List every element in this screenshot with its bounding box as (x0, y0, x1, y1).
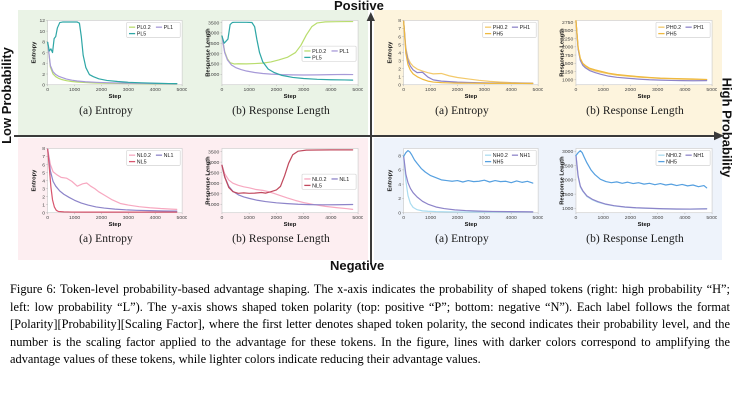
svg-text:0: 0 (221, 215, 224, 221)
svg-text:Step: Step (465, 94, 478, 100)
svg-text:4000: 4000 (150, 215, 161, 221)
svg-text:Step: Step (284, 222, 297, 228)
caption-NH-length: (b) Response Length (586, 233, 684, 245)
chart-cell-NL-entropy: 010002000300040005000012345678StepEntrop… (22, 140, 190, 260)
plot-PL-entropy: 010002000300040005000024681012StepEntrop… (22, 12, 190, 104)
svg-text:5000: 5000 (533, 87, 543, 93)
svg-text:1000: 1000 (244, 87, 255, 93)
svg-text:PH5: PH5 (666, 32, 677, 38)
caption-PH-entropy: (a) Entropy (435, 105, 489, 117)
svg-text:PL5: PL5 (312, 55, 322, 61)
svg-text:NL5: NL5 (312, 183, 322, 189)
svg-text:6: 6 (398, 34, 401, 40)
svg-text:4000: 4000 (506, 87, 517, 93)
svg-text:2000: 2000 (271, 215, 282, 221)
chart-cell-PL-length: 0100020003000400050001000150020002500300… (196, 12, 366, 132)
svg-text:2750: 2750 (562, 20, 573, 26)
svg-text:PH1: PH1 (693, 25, 704, 31)
horizontal-axis-line (14, 135, 718, 137)
chart-cell-PH-length: 0100020003000400050001000125015001750200… (550, 12, 720, 132)
vertical-axis-line (370, 18, 372, 264)
svg-text:0: 0 (398, 210, 401, 216)
svg-text:Step: Step (638, 94, 651, 100)
svg-text:3000: 3000 (652, 215, 663, 221)
plot-PL-length: 0100020003000400050001000150020002500300… (196, 12, 366, 104)
svg-text:0: 0 (575, 87, 578, 93)
svg-text:5000: 5000 (706, 215, 717, 221)
svg-text:4: 4 (398, 50, 401, 56)
svg-text:NL1: NL1 (339, 177, 349, 183)
svg-text:Response Length: Response Length (205, 28, 211, 77)
svg-text:PH0.2: PH0.2 (666, 25, 681, 31)
svg-text:5: 5 (398, 42, 401, 48)
svg-text:NH5: NH5 (666, 160, 677, 166)
svg-text:3500: 3500 (208, 20, 219, 26)
svg-text:Entropy: Entropy (387, 169, 393, 192)
caption-NL-entropy: (a) Entropy (79, 233, 133, 245)
svg-text:1000: 1000 (598, 87, 609, 93)
svg-text:1000: 1000 (244, 215, 255, 221)
chart-cell-PL-entropy: 010002000300040005000024681012StepEntrop… (22, 12, 190, 132)
svg-text:NL5: NL5 (137, 160, 147, 166)
svg-text:1000: 1000 (562, 78, 573, 84)
svg-text:4: 4 (42, 178, 45, 184)
plot-NL-length: 0100020003000400050001000150020002500300… (196, 140, 366, 232)
svg-text:1000: 1000 (598, 215, 609, 221)
svg-text:0: 0 (42, 210, 45, 216)
svg-text:3000: 3000 (479, 215, 490, 221)
plot-NH-length: 0100020003000400050001000150020002500300… (550, 140, 720, 232)
svg-text:Step: Step (109, 94, 122, 100)
svg-text:3000: 3000 (479, 87, 490, 93)
svg-text:0: 0 (575, 215, 578, 221)
svg-text:PL5: PL5 (137, 32, 147, 38)
svg-text:1: 1 (42, 202, 45, 208)
svg-text:0: 0 (42, 82, 45, 88)
chart-cell-NL-length: 0100020003000400050001000150020002500300… (196, 140, 366, 260)
svg-text:5000: 5000 (177, 87, 187, 93)
svg-text:3000: 3000 (298, 87, 309, 93)
svg-text:PH1: PH1 (520, 25, 530, 31)
chart-cell-PH-entropy: 010002000300040005000012345678StepEntrop… (378, 12, 546, 132)
svg-text:Step: Step (638, 222, 651, 228)
svg-text:5: 5 (42, 170, 45, 176)
svg-text:Response Length: Response Length (559, 28, 565, 77)
svg-text:4000: 4000 (150, 87, 161, 93)
svg-text:12: 12 (40, 18, 46, 24)
svg-text:3000: 3000 (652, 87, 663, 93)
svg-text:1000: 1000 (425, 87, 436, 93)
svg-text:7: 7 (42, 154, 45, 160)
svg-text:Entropy: Entropy (387, 41, 393, 64)
svg-text:0: 0 (46, 215, 49, 221)
svg-text:PL1: PL1 (164, 25, 174, 31)
svg-text:7: 7 (398, 26, 401, 32)
caption-PH-length: (b) Response Length (586, 105, 684, 117)
svg-text:3000: 3000 (123, 215, 134, 221)
svg-text:10: 10 (40, 29, 46, 35)
svg-text:5000: 5000 (352, 87, 363, 93)
svg-text:2000: 2000 (96, 215, 107, 221)
svg-text:3: 3 (42, 186, 45, 192)
svg-text:8: 8 (398, 18, 401, 24)
svg-text:NL1: NL1 (164, 153, 174, 159)
chart-cell-NH-length: 0100020003000400050001000150020002500300… (550, 140, 720, 260)
svg-text:4000: 4000 (325, 87, 336, 93)
svg-text:0: 0 (402, 87, 405, 93)
caption-PL-entropy: (a) Entropy (79, 105, 133, 117)
svg-text:3000: 3000 (562, 149, 573, 155)
svg-text:4000: 4000 (679, 215, 690, 221)
svg-text:2000: 2000 (625, 215, 636, 221)
svg-text:1000: 1000 (562, 206, 573, 212)
svg-text:NH1: NH1 (520, 153, 531, 159)
svg-text:4: 4 (42, 61, 45, 67)
caption-NH-entropy: (a) Entropy (435, 233, 489, 245)
caption-NL-length: (b) Response Length (232, 233, 330, 245)
svg-text:1000: 1000 (425, 215, 436, 221)
svg-text:2: 2 (42, 72, 45, 78)
svg-text:8: 8 (398, 153, 401, 159)
svg-text:2: 2 (398, 66, 401, 72)
svg-text:0: 0 (398, 82, 401, 88)
svg-text:1: 1 (398, 74, 401, 80)
svg-text:6: 6 (42, 162, 45, 168)
svg-text:PL1: PL1 (339, 49, 349, 55)
svg-text:4000: 4000 (506, 215, 517, 221)
svg-text:2000: 2000 (452, 215, 463, 221)
svg-text:Step: Step (465, 222, 478, 228)
svg-text:2000: 2000 (625, 87, 636, 93)
svg-text:3000: 3000 (123, 87, 134, 93)
svg-text:Entropy: Entropy (31, 169, 37, 192)
chart-cell-NH-entropy: 01000200030004000500002468StepEntropyNH0… (378, 140, 546, 260)
svg-text:6: 6 (398, 168, 401, 174)
figure-caption: Figure 6: Token-level probability-based … (0, 275, 740, 369)
svg-text:0: 0 (221, 87, 224, 93)
svg-text:4000: 4000 (325, 215, 336, 221)
axis-label-low-probability: Low Probability (0, 47, 14, 144)
axis-label-positive: Positive (334, 0, 384, 13)
svg-text:2000: 2000 (271, 87, 282, 93)
svg-text:3: 3 (398, 58, 401, 64)
svg-text:NH1: NH1 (693, 153, 704, 159)
svg-text:5000: 5000 (352, 215, 363, 221)
svg-text:PH5: PH5 (493, 32, 503, 38)
plot-PH-entropy: 010002000300040005000012345678StepEntrop… (378, 12, 546, 104)
svg-text:4: 4 (398, 182, 401, 188)
svg-text:1000: 1000 (69, 87, 80, 93)
svg-text:0: 0 (402, 215, 405, 221)
svg-text:PL0.2: PL0.2 (312, 49, 326, 55)
axis-label-high-probability: High Probability (719, 78, 734, 178)
svg-text:2000: 2000 (452, 87, 463, 93)
figure-panel: 010002000300040005000024681012StepEntrop… (0, 0, 740, 275)
svg-text:Step: Step (109, 222, 122, 228)
svg-text:NH5: NH5 (493, 160, 504, 166)
caption-PL-length: (b) Response Length (232, 105, 330, 117)
svg-text:5000: 5000 (533, 215, 543, 221)
svg-text:Entropy: Entropy (31, 41, 37, 64)
svg-text:1000: 1000 (69, 215, 80, 221)
svg-text:6: 6 (42, 50, 45, 56)
plot-NH-entropy: 01000200030004000500002468StepEntropyNH0… (378, 140, 546, 232)
svg-text:8: 8 (42, 146, 45, 152)
svg-text:8: 8 (42, 40, 45, 46)
svg-text:Response Length: Response Length (559, 156, 565, 205)
svg-text:PL0.2: PL0.2 (137, 25, 151, 31)
svg-text:5000: 5000 (706, 87, 717, 93)
svg-text:2000: 2000 (96, 87, 107, 93)
svg-text:NH0.2: NH0.2 (666, 153, 681, 159)
svg-text:3500: 3500 (208, 149, 219, 155)
svg-text:PH0.2: PH0.2 (493, 25, 508, 31)
svg-text:NL0.2: NL0.2 (137, 153, 151, 159)
svg-text:2: 2 (42, 194, 45, 200)
plot-PH-length: 0100020003000400050001000125015001750200… (550, 12, 720, 104)
svg-text:5000: 5000 (177, 215, 187, 221)
plot-NL-entropy: 010002000300040005000012345678StepEntrop… (22, 140, 190, 232)
svg-text:NL0.2: NL0.2 (312, 177, 326, 183)
svg-text:0: 0 (46, 87, 49, 93)
svg-text:NH0.2: NH0.2 (493, 153, 508, 159)
svg-text:3000: 3000 (298, 215, 309, 221)
axis-label-negative: Negative (330, 258, 384, 273)
svg-text:Step: Step (284, 94, 297, 100)
svg-text:2: 2 (398, 196, 401, 202)
svg-text:Response Length: Response Length (205, 156, 211, 205)
svg-text:4000: 4000 (679, 87, 690, 93)
